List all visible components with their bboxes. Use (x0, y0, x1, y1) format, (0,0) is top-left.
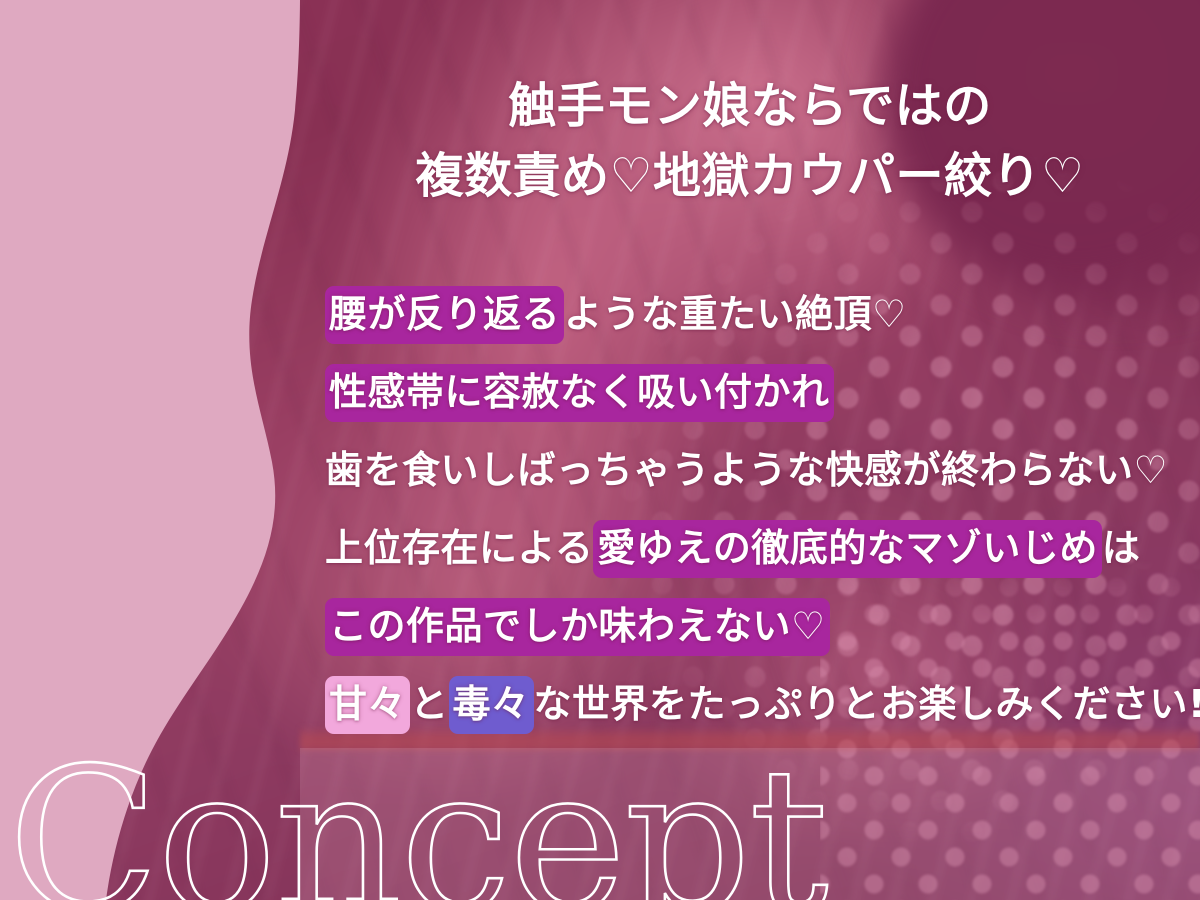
highlighted-text-segment: 腰が反り返る (325, 286, 564, 344)
body-line: 性感帯に容赦なく吸い付かれ (325, 364, 1185, 442)
heading-block: 触手モン娘ならではの 複数責め♡地獄カウパー絞り♡ (300, 72, 1200, 211)
plain-text-segment: 歯を食いしばっちゃうような快感が終わらない♡ (325, 448, 1168, 492)
body-text-block: 腰が反り返るような重たい絶頂♡性感帯に容赦なく吸い付かれ歯を食いしばっちゃうよう… (325, 286, 1185, 754)
heading-line-1: 触手モン娘ならではの (300, 72, 1200, 142)
plain-text-segment: は (1102, 526, 1141, 570)
plain-text-segment: と (410, 682, 449, 726)
highlighted-text-segment: 性感帯に容赦なく吸い付かれ (325, 364, 834, 422)
body-line: この作品でしか味わえない♡ (325, 598, 1185, 676)
body-line: 甘々と毒々な世界をたっぷりとお楽しみください!! (325, 676, 1185, 754)
body-line: 腰が反り返るような重たい絶頂♡ (325, 286, 1185, 364)
highlighted-text-segment: 愛ゆえの徹底的なマゾいじめ (593, 520, 1102, 578)
highlighted-text-segment: 甘々 (325, 676, 410, 734)
plain-text-segment: 上位存在による (325, 526, 593, 570)
plain-text-segment: な世界をたっぷりとお楽しみください!! (534, 682, 1200, 726)
heading-line-2: 複数責め♡地獄カウパー絞り♡ (300, 142, 1200, 212)
concept-slide: 触手モン娘ならではの 複数責め♡地獄カウパー絞り♡ 腰が反り返るような重たい絶頂… (0, 0, 1200, 900)
highlighted-text-segment: 毒々 (449, 676, 534, 734)
body-line: 歯を食いしばっちゃうような快感が終わらない♡ (325, 442, 1185, 520)
background-light-wash (300, 748, 1200, 900)
plain-text-segment: ような重たい絶頂♡ (564, 292, 907, 336)
body-line: 上位存在による愛ゆえの徹底的なマゾいじめは (325, 520, 1185, 598)
highlighted-text-segment: この作品でしか味わえない♡ (325, 598, 830, 656)
